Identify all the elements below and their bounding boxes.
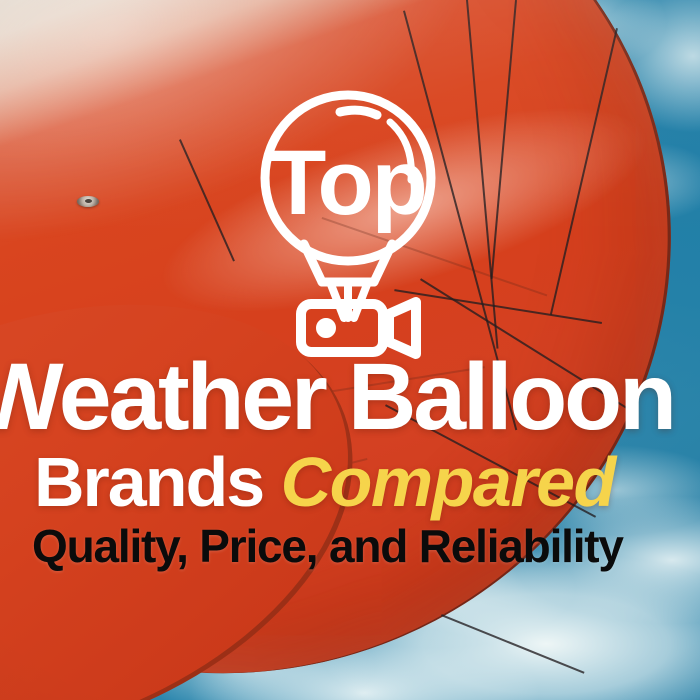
camera-aperture-dot [319,321,333,335]
thumbnail-canvas: Top Weather Balloon Brands Compared Qual… [0,0,700,700]
headline-line-2-white: Brands [34,443,263,521]
headline-line-2-accent: Compared [281,443,615,521]
logo-artwork: Top [256,86,452,346]
headline-block: Weather Balloon Brands Compared Quality,… [0,352,700,569]
headline-line-1: Weather Balloon [0,352,700,443]
top-balloon-logo[interactable]: Top [256,86,452,346]
headline-line-3-subhead: Quality, Price, and Reliability [32,523,700,569]
balloon-highlight-dash [340,110,377,115]
logo-wordmark: Top [270,132,426,234]
headline-line-2: Brands Compared [34,447,700,517]
